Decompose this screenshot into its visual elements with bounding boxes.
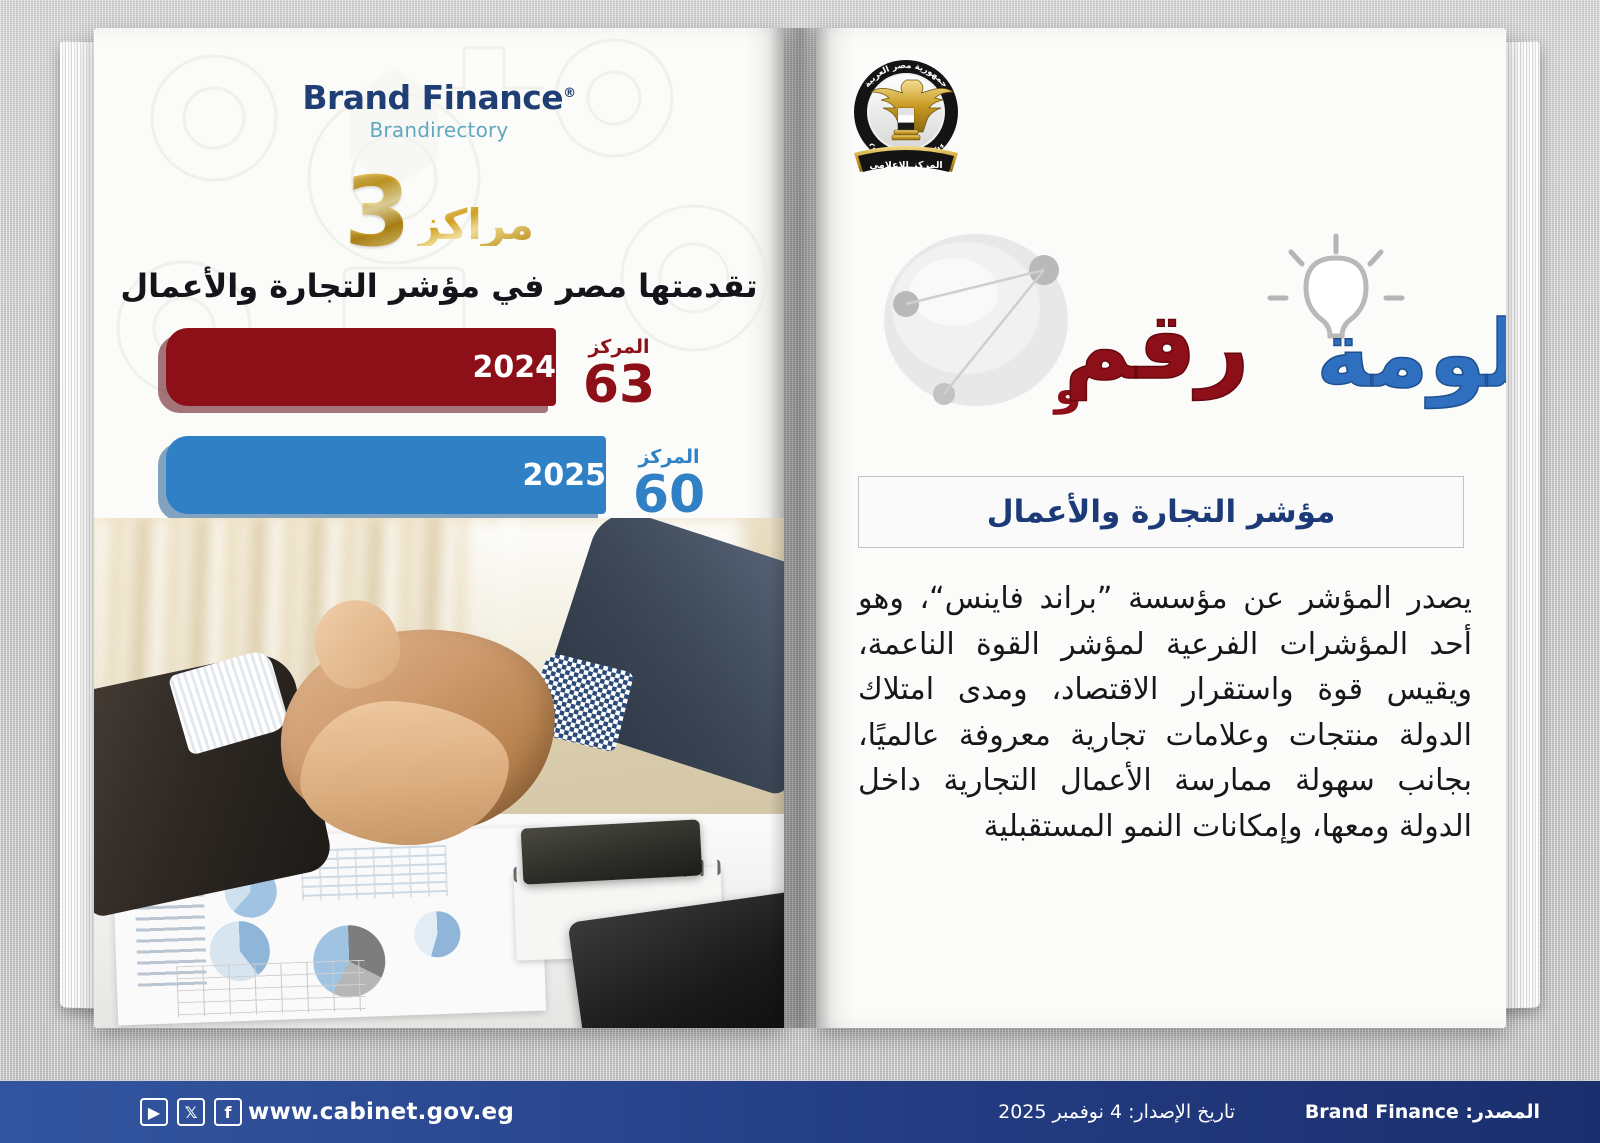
bar-year-2024: 2024: [473, 350, 557, 385]
improvement-callout: مراكز3: [94, 164, 784, 260]
handshake-photo: [94, 518, 784, 1028]
bar-label-2024: المركز 63: [564, 338, 674, 411]
photo-pie-chart-4: [414, 910, 462, 958]
brand-word-blue: معلومة: [1316, 301, 1506, 409]
bar-row-2025: 2025 المركز 60: [94, 436, 784, 528]
footer-bar: المصدر: Brand Finance تاريخ الإصدار: 4 ن…: [0, 1081, 1600, 1143]
x-twitter-icon[interactable]: 𝕏: [177, 1098, 205, 1126]
logo-ribbon-text: المركز الإعلامي: [869, 160, 942, 171]
improvement-number: 3: [344, 164, 411, 260]
bar-label-2025: المركز 60: [614, 448, 724, 521]
bar-2024: 2024: [166, 328, 556, 406]
bar-row-2024: 2024 المركز 63: [94, 328, 784, 420]
section-title-box: مؤشر التجارة والأعمال: [858, 476, 1464, 548]
rank-value-2024: 63: [564, 359, 674, 411]
photo-data-table: [176, 960, 366, 1018]
photo-smartphone: [520, 819, 702, 884]
registered-mark: ®: [563, 86, 576, 101]
youtube-icon[interactable]: ▶: [140, 1098, 168, 1126]
footer-source: المصدر: Brand Finance: [1305, 1101, 1540, 1123]
footer-social-links: f 𝕏 ▶: [140, 1098, 242, 1126]
brand-finance-subtitle: Brandirectory: [94, 118, 784, 142]
section-title: مؤشر التجارة والأعمال: [987, 494, 1336, 530]
rank-bar-chart: 2024 المركز 63 2025 المركز 60: [94, 328, 784, 538]
brand-finance-name: Brand Finance®: [302, 78, 575, 117]
improvement-unit: مراكز: [417, 204, 534, 246]
brand-word-red: رقم: [1064, 293, 1249, 401]
body-paragraph: يصدر المؤشر عن مؤسسة ”براند فاينس“، وهو …: [858, 576, 1472, 850]
bar-year-2025: 2025: [523, 458, 607, 493]
egypt-cabinet-media-center-logo: جمهورية مصر العربية رئاسة مجلس الوزراء ا…: [840, 52, 972, 184]
bar-2025: 2025: [166, 436, 606, 514]
maloma-wa-raqam-brand: معلومة و رقم: [816, 228, 1506, 428]
left-page: Brand Finance® Brandirectory مراكز3 تقدم…: [94, 28, 784, 1028]
page-headline: تقدمتها مصر في مؤشر التجارة والأعمال: [116, 266, 762, 306]
right-page: جمهورية مصر العربية رئاسة مجلس الوزراء ا…: [816, 28, 1506, 1028]
open-book: Brand Finance® Brandirectory مراكز3 تقدم…: [60, 28, 1540, 1028]
brand-finance-logo: Brand Finance® Brandirectory: [94, 78, 784, 142]
footer-release-date: تاريخ الإصدار: 4 نوفمبر 2025: [998, 1101, 1235, 1123]
facebook-icon[interactable]: f: [214, 1098, 242, 1126]
footer-website-url[interactable]: www.cabinet.gov.eg: [248, 1099, 514, 1125]
rank-value-2025: 60: [614, 469, 724, 521]
